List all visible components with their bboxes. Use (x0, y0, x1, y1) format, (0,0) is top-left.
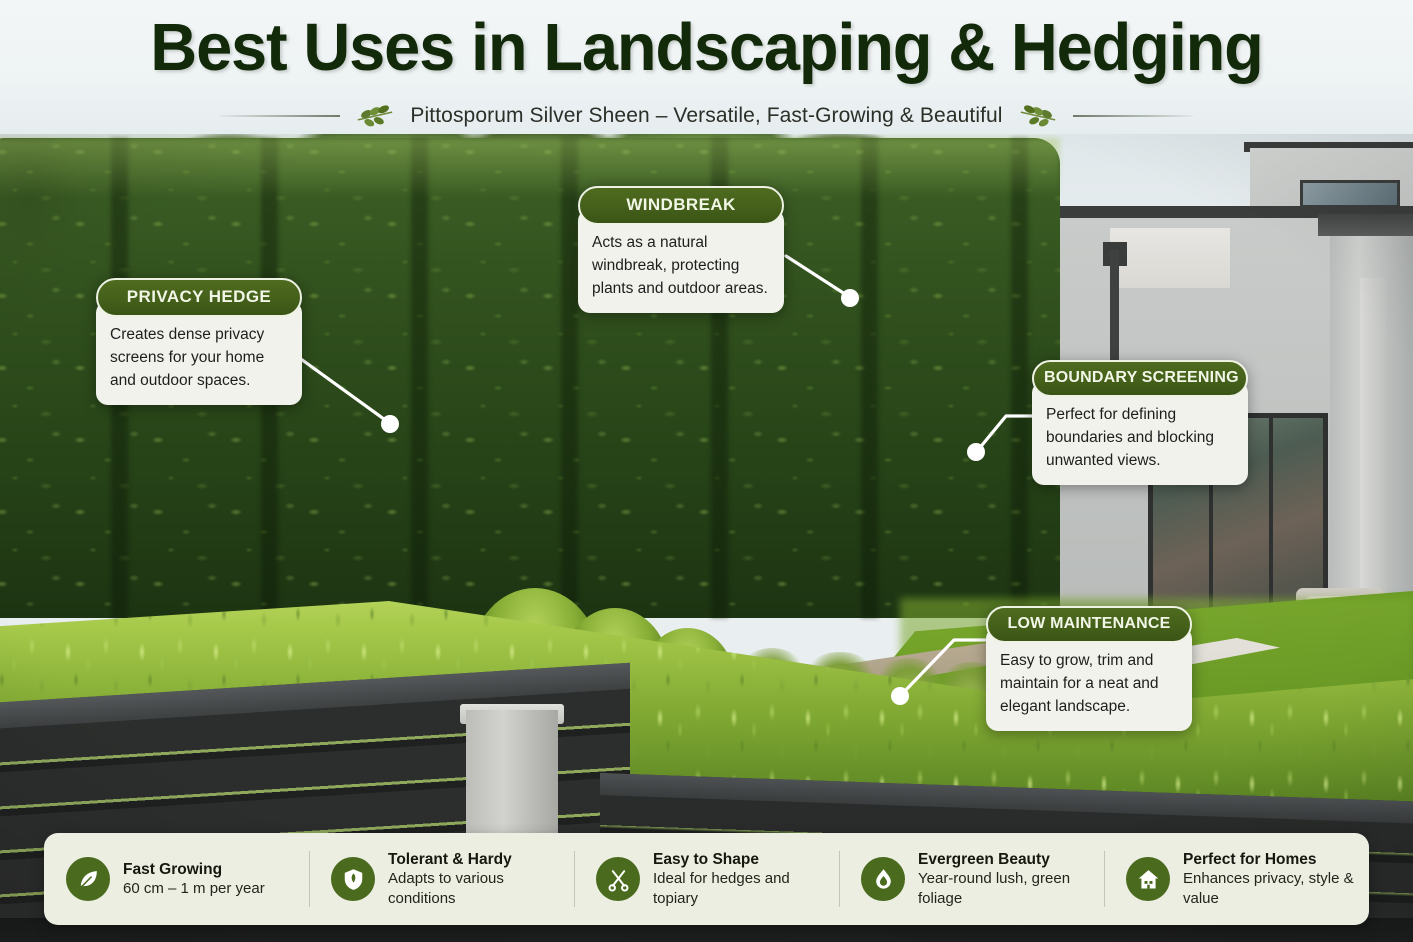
home-icon (1126, 857, 1170, 901)
callout-heading: WINDBREAK (578, 186, 784, 225)
divider-right (1073, 115, 1193, 117)
feature-text: Easy to Shape Ideal for hedges and topia… (653, 850, 827, 909)
subtitle-row: Pittosporum Silver Sheen – Versatile, Fa… (0, 100, 1413, 132)
leaf-sprig-icon (354, 103, 396, 129)
hedge-sunlit-top (0, 138, 1060, 198)
feature-title: Fast Growing (123, 860, 265, 879)
feature-desc: 60 cm – 1 m per year (123, 879, 265, 899)
feature-item-tolerant-hardy[interactable]: Tolerant & Hardy Adapts to various condi… (309, 833, 574, 925)
house-right-eave (1318, 214, 1413, 236)
feature-text: Perfect for Homes Enhances privacy, styl… (1183, 850, 1357, 909)
droplet-icon (861, 857, 905, 901)
leaf-icon (66, 857, 110, 901)
feature-item-easy-to-shape[interactable]: Easy to Shape Ideal for hedges and topia… (574, 833, 839, 925)
callout-heading: PRIVACY HEDGE (96, 278, 302, 317)
feature-item-fast-growing[interactable]: Fast Growing 60 cm – 1 m per year (44, 833, 309, 925)
scissors-icon (596, 857, 640, 901)
feature-title: Easy to Shape (653, 850, 827, 869)
page-title: Best Uses in Landscaping & Hedging (21, 8, 1392, 88)
connector-windbreak (780, 250, 880, 320)
feature-text: Tolerant & Hardy Adapts to various condi… (388, 850, 562, 909)
callout-boundary-screening[interactable]: BOUNDARY SCREENING Perfect for defining … (1032, 360, 1248, 485)
callout-heading: BOUNDARY SCREENING (1032, 360, 1248, 397)
feature-desc: Enhances privacy, style & value (1183, 869, 1357, 909)
callout-heading: LOW MAINTENANCE (986, 606, 1192, 643)
feature-bar: Fast Growing 60 cm – 1 m per year Tolera… (44, 833, 1369, 925)
house-light-panel (1110, 228, 1230, 288)
feature-text: Fast Growing 60 cm – 1 m per year (123, 860, 265, 899)
feature-desc: Ideal for hedges and topiary (653, 869, 827, 909)
callout-windbreak[interactable]: WINDBREAK Acts as a natural windbreak, p… (578, 186, 784, 313)
callout-low-maintenance[interactable]: LOW MAINTENANCE Easy to grow, trim and m… (986, 606, 1192, 731)
callout-privacy-hedge[interactable]: PRIVACY HEDGE Creates dense privacy scre… (96, 278, 302, 405)
page-subtitle: Pittosporum Silver Sheen – Versatile, Fa… (410, 104, 1002, 128)
shield-icon (331, 857, 375, 901)
feature-title: Evergreen Beauty (918, 850, 1092, 869)
feature-title: Tolerant & Hardy (388, 850, 562, 869)
connector-lowmaint (878, 632, 998, 712)
leaf-sprig-icon (1017, 103, 1059, 129)
feature-desc: Adapts to various conditions (388, 869, 562, 909)
divider-left (220, 115, 340, 117)
feature-item-perfect-for-homes[interactable]: Perfect for Homes Enhances privacy, styl… (1104, 833, 1369, 925)
house-upper-window (1300, 180, 1400, 208)
header-banner: Best Uses in Landscaping & Hedging Pitto… (0, 0, 1413, 134)
feature-text: Evergreen Beauty Year-round lush, green … (918, 850, 1092, 909)
infographic-root: PRIVACY HEDGE Creates dense privacy scre… (0, 0, 1413, 942)
feature-desc: Year-round lush, green foliage (918, 869, 1092, 909)
feature-item-evergreen-beauty[interactable]: Evergreen Beauty Year-round lush, green … (839, 833, 1104, 925)
connector-privacy (290, 340, 410, 440)
feature-title: Perfect for Homes (1183, 850, 1357, 869)
